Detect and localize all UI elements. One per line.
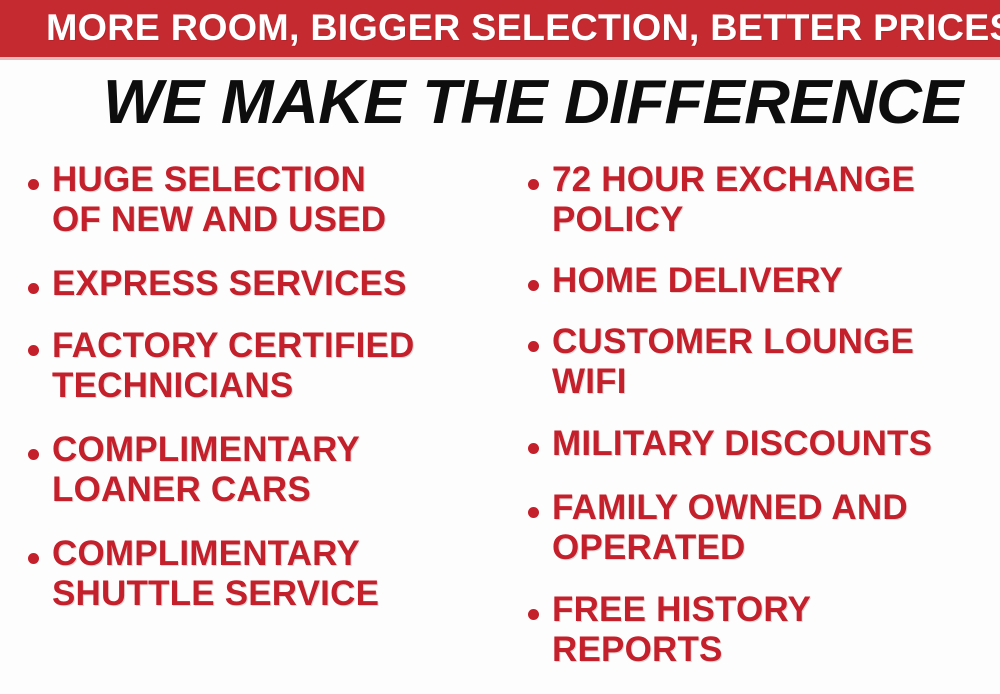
list-item-label: FAMILY OWNED AND OPERATED [552,488,1000,568]
list-item-label: HOME DELIVERY [552,261,1000,301]
list-item: HUGE SELECTION OF NEW AND USED [16,160,512,240]
list-item-label: EXPRESS SERVICES [52,264,512,304]
list-item: 72 HOUR EXCHANGE POLICY [516,160,1000,240]
bullet-dot-icon [528,443,539,454]
list-item-label: 72 HOUR EXCHANGE POLICY [552,160,1000,240]
list-item-label: CUSTOMER LOUNGE WIFI [552,322,1000,402]
bullet-dot-icon [528,179,539,190]
list-item-label: COMPLIMENTARY LOANER CARS [52,430,512,510]
banner-underline [0,57,1000,60]
list-item-label: FREE HISTORY REPORTS [552,590,1000,670]
bullet-dot-icon [28,179,39,190]
promo-poster: MORE ROOM, BIGGER SELECTION, BETTER PRIC… [0,0,1000,694]
list-item-label: FACTORY CERTIFIED TECHNICIANS [52,326,512,406]
list-item: MILITARY DISCOUNTS [516,424,1000,464]
list-item: CUSTOMER LOUNGE WIFI [516,322,1000,402]
bullet-dot-icon [528,341,539,352]
bullet-dot-icon [528,280,539,291]
bullet-dot-icon [28,449,39,460]
bullet-dot-icon [528,609,539,620]
list-item: EXPRESS SERVICES [16,264,512,304]
bullet-dot-icon [28,283,39,294]
list-item-label: HUGE SELECTION OF NEW AND USED [52,160,512,240]
benefits-column-left: HUGE SELECTION OF NEW AND USED EXPRESS S… [16,160,512,622]
list-item: FAMILY OWNED AND OPERATED [516,488,1000,568]
bullet-dot-icon [28,553,39,564]
list-item: HOME DELIVERY [516,261,1000,301]
banner-headline-text: MORE ROOM, BIGGER SELECTION, BETTER PRIC… [46,5,976,51]
list-item-label: COMPLIMENTARY SHUTTLE SERVICE [52,534,512,614]
bullet-dot-icon [28,345,39,356]
list-item: FREE HISTORY REPORTS [516,590,1000,670]
list-item: FACTORY CERTIFIED TECHNICIANS [16,326,512,406]
benefits-column-right: 72 HOUR EXCHANGE POLICY HOME DELIVERY CU… [516,160,1000,678]
bullet-dot-icon [528,507,539,518]
list-item: COMPLIMENTARY SHUTTLE SERVICE [16,534,512,614]
page-title: WE MAKE THE DIFFERENCE [103,72,919,134]
list-item-label: MILITARY DISCOUNTS [552,424,1000,464]
list-item: COMPLIMENTARY LOANER CARS [16,430,512,510]
